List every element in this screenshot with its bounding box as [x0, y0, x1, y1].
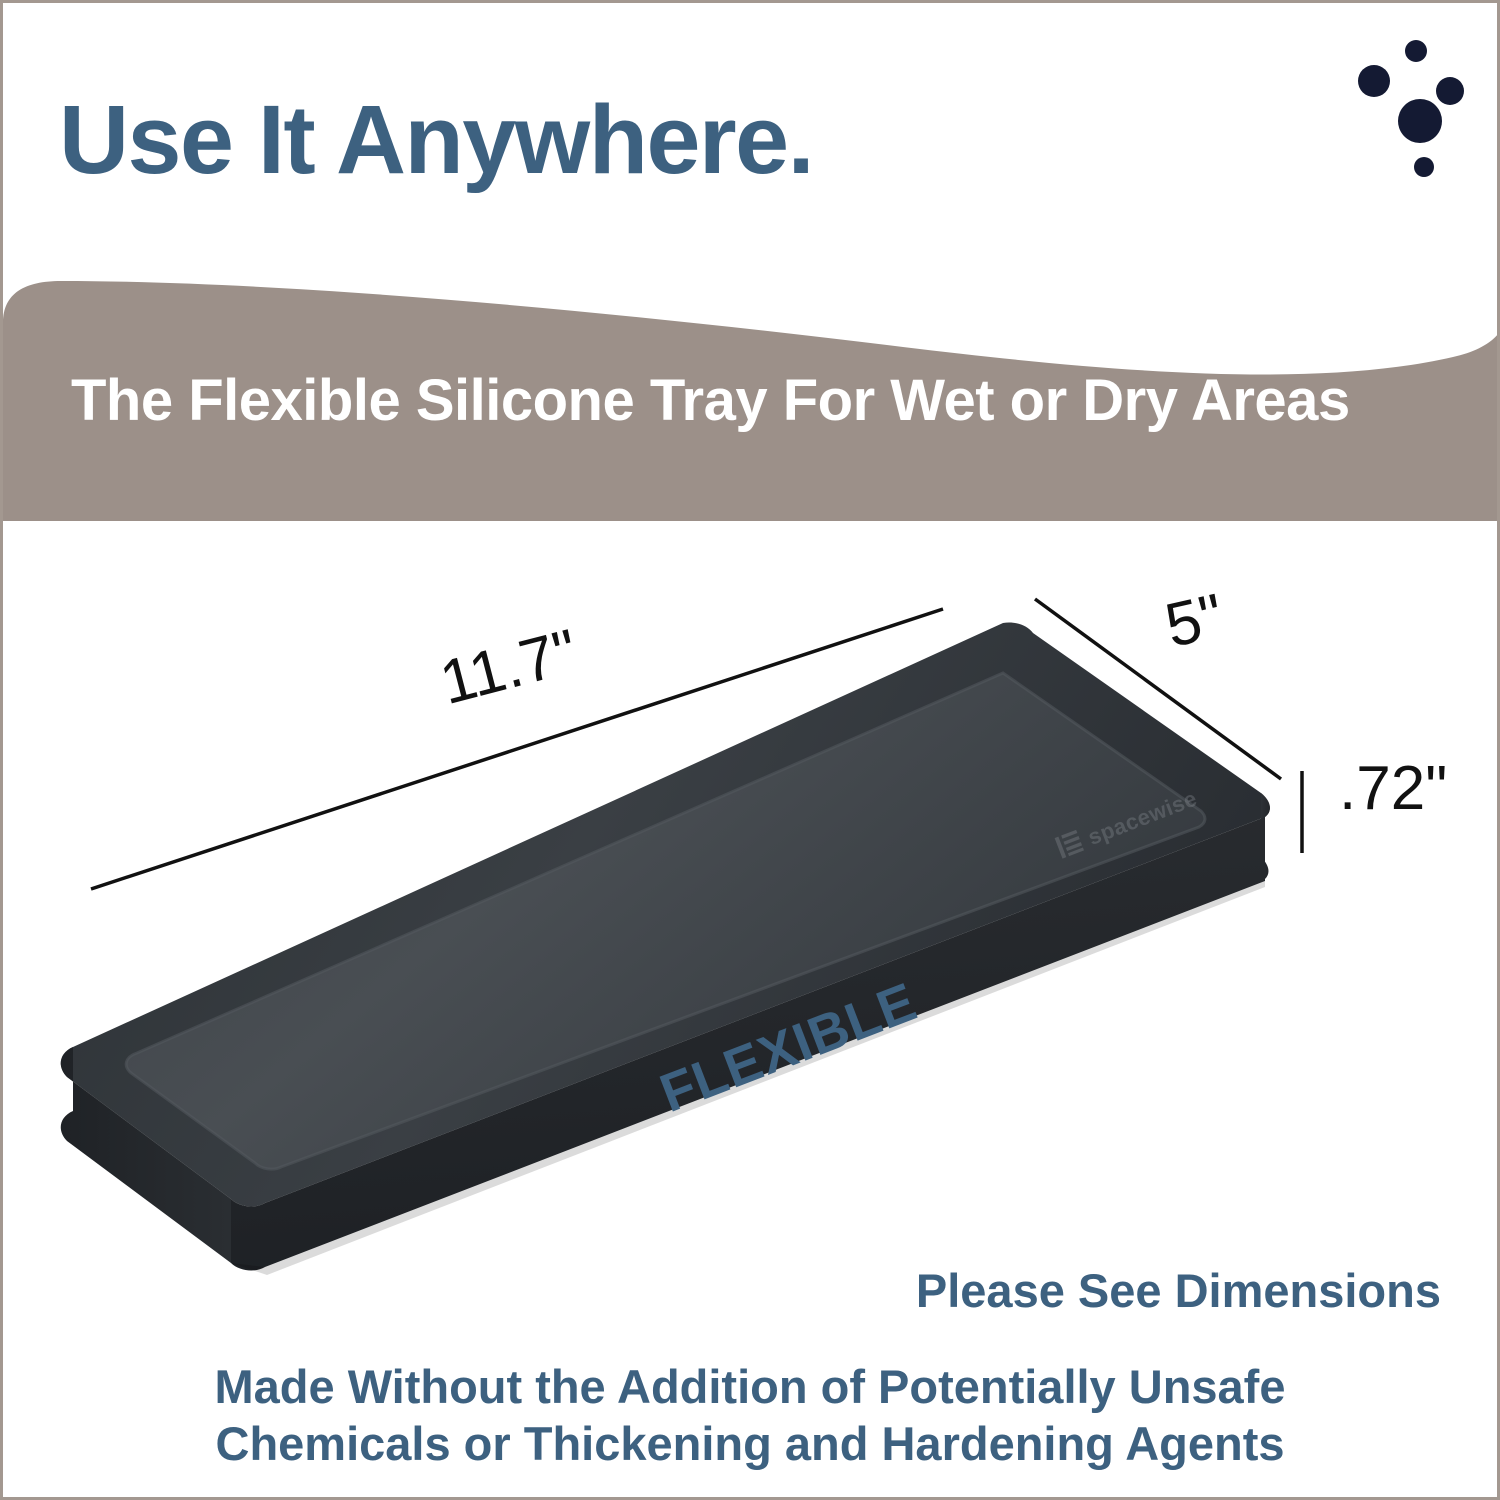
- disclaimer-block: Made Without the Addition of Potentially…: [3, 1358, 1497, 1473]
- decorative-dot-1: [1405, 40, 1427, 62]
- banner-subtitle: The Flexible Silicone Tray For Wet or Dr…: [71, 367, 1471, 434]
- subtitle-banner: The Flexible Silicone Tray For Wet or Dr…: [3, 271, 1500, 521]
- product-illustration: spacewise: [3, 521, 1500, 1311]
- tray-body: spacewise: [61, 622, 1270, 1275]
- decorative-dot-2: [1358, 65, 1390, 97]
- decorative-dot-3: [1436, 77, 1464, 105]
- page-title: Use It Anywhere.: [59, 91, 813, 188]
- dimension-label-height: .72": [1339, 753, 1447, 824]
- decorative-dots-cluster: [1358, 23, 1498, 183]
- see-dimensions-note: Please See Dimensions: [916, 1263, 1441, 1318]
- decorative-dot-5: [1414, 157, 1434, 177]
- disclaimer-line-1: Made Without the Addition of Potentially…: [3, 1358, 1497, 1415]
- disclaimer-line-2: Chemicals or Thickening and Hardening Ag…: [3, 1415, 1497, 1472]
- product-marketing-image: Use It Anywhere. The Flexible Silicone T…: [0, 0, 1500, 1500]
- decorative-dot-4: [1398, 99, 1442, 143]
- tray-drawing: spacewise: [3, 521, 1500, 1311]
